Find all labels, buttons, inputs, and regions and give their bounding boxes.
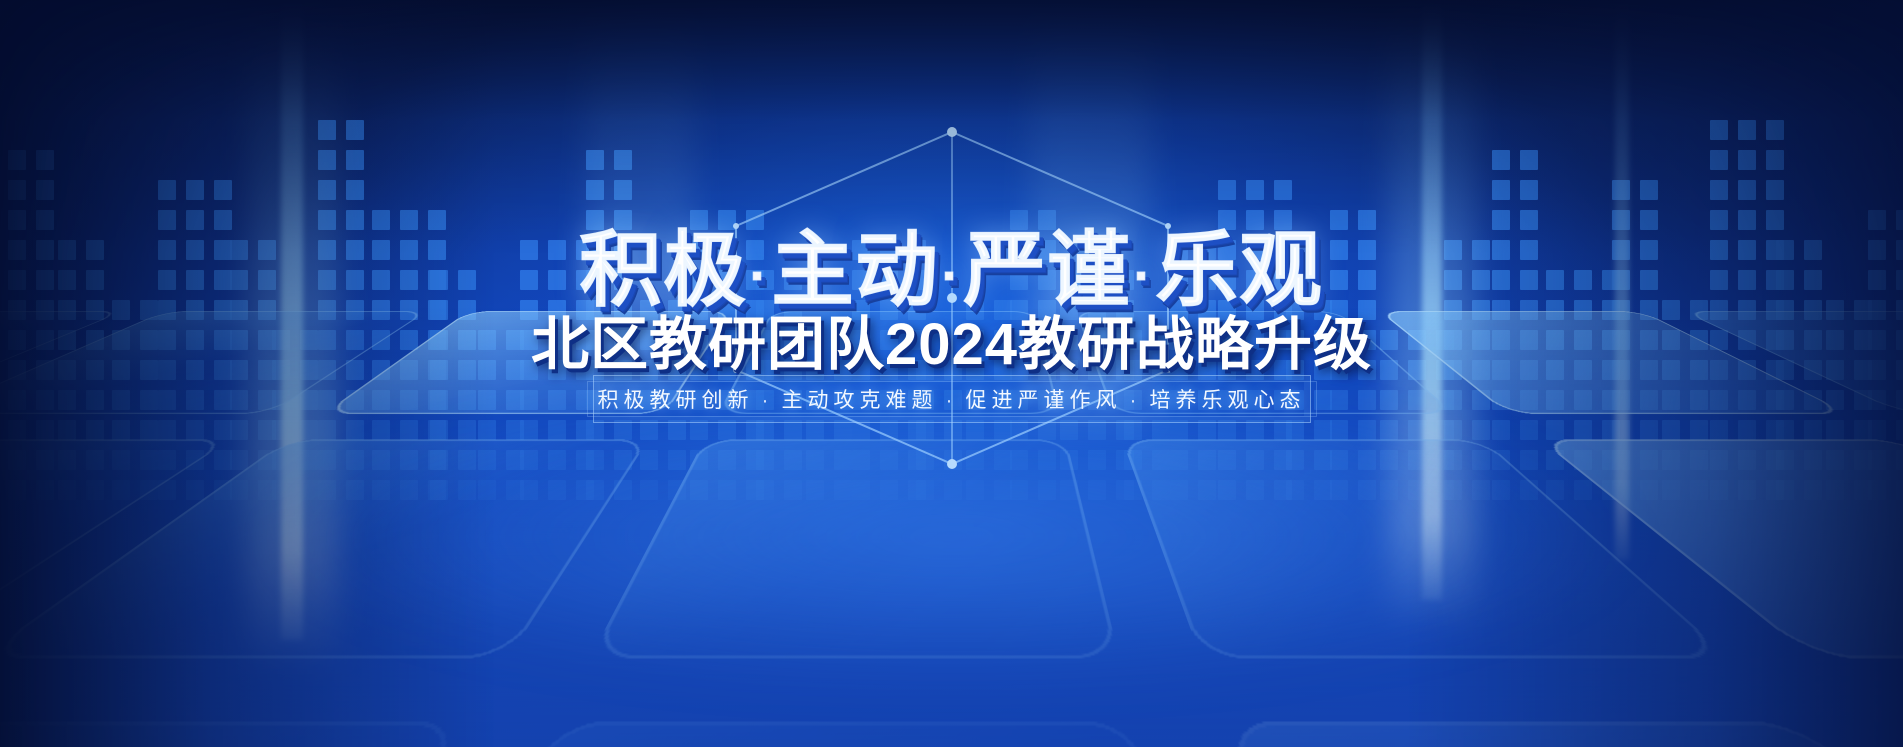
- tagline-separator: ·: [938, 389, 966, 412]
- title-separator: ·: [1134, 246, 1154, 306]
- title-part-2: 主动: [771, 225, 939, 316]
- title-separator: ·: [942, 246, 962, 306]
- banner-subtitle: 北区教研团队2024教研战略升级: [0, 316, 1903, 374]
- tagline-item-4: 培养乐观心态: [1150, 389, 1306, 412]
- tagline-text: 积极教研创新·主动攻克难题·促进严谨作风·培养乐观心态: [598, 384, 1306, 414]
- tagline-bar: 积极教研创新·主动攻克难题·促进严谨作风·培养乐观心态: [593, 375, 1311, 423]
- banner-content: 积极·主动·严谨·乐观 北区教研团队2024教研战略升级 积极教研创新·主动攻克…: [0, 0, 1903, 747]
- title-separator: ·: [750, 246, 770, 306]
- banner-title: 积极·主动·严谨·乐观: [0, 230, 1903, 312]
- title-part-1: 积极: [579, 225, 747, 316]
- title-part-3: 严谨: [963, 225, 1131, 316]
- title-part-4: 乐观: [1155, 225, 1323, 316]
- event-banner: 积极·主动·严谨·乐观 北区教研团队2024教研战略升级 积极教研创新·主动攻克…: [0, 0, 1903, 747]
- tagline-item-2: 主动攻克难题: [782, 389, 938, 412]
- tagline-separator: ·: [1122, 389, 1150, 412]
- tagline-item-3: 促进严谨作风: [966, 389, 1122, 412]
- tagline-separator: ·: [754, 389, 782, 412]
- tagline-item-1: 积极教研创新: [598, 389, 754, 412]
